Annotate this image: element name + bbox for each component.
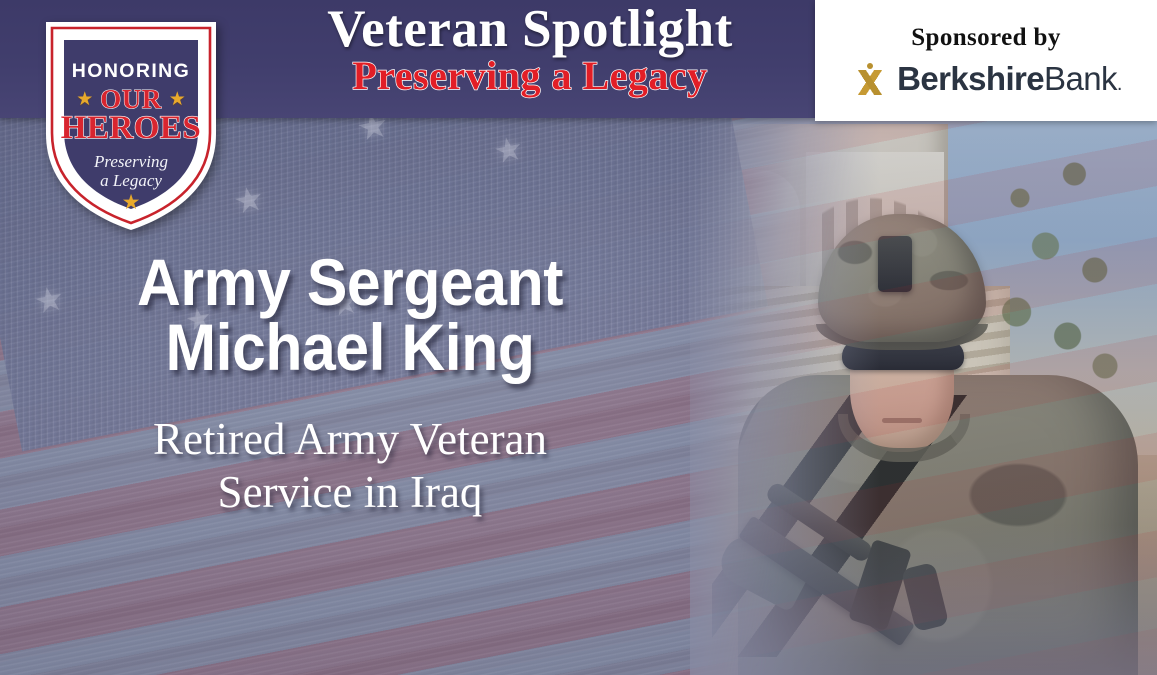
bank-name: BerkshireBank. [897,60,1122,98]
bank-name-period: . [1117,73,1122,95]
sponsor-panel: Sponsored by BerkshireBank. [815,0,1157,121]
veteran-description: Retired Army Veteran Service in Iraq [0,413,700,517]
sponsored-by-label: Sponsored by [911,24,1061,52]
veteran-name-line2: Michael King [28,315,672,380]
soldier-photo [690,118,1157,675]
veteran-name-line1: Army Sergeant [28,250,672,315]
veteran-description-line1: Retired Army Veteran [0,413,700,465]
berkshire-x-mark-icon [850,61,890,97]
helmet-nvg-mount [878,236,912,292]
veteran-info-block: Army Sergeant Michael King Retired Army … [0,250,700,518]
veteran-spotlight-graphic: ★ ★ ★ ★ ★ ★ ★ ★ ★ ★ ★ ★ [0,0,1157,675]
page-title: Veteran Spotlight [250,2,810,58]
page-subtitle: Preserving a Legacy [250,56,810,96]
shield-shape [38,14,224,236]
veteran-description-line2: Service in Iraq [0,466,700,518]
honoring-our-heroes-logo[interactable]: HONORING ★ OUR ★ HEROES Preserving a Leg… [38,14,224,236]
header-title-group: Veteran Spotlight Preserving a Legacy [250,2,810,96]
berkshire-bank-logo[interactable]: BerkshireBank. [850,60,1122,98]
bank-name-bold: Berkshire [897,60,1044,97]
bank-name-light: Bank [1044,60,1117,97]
